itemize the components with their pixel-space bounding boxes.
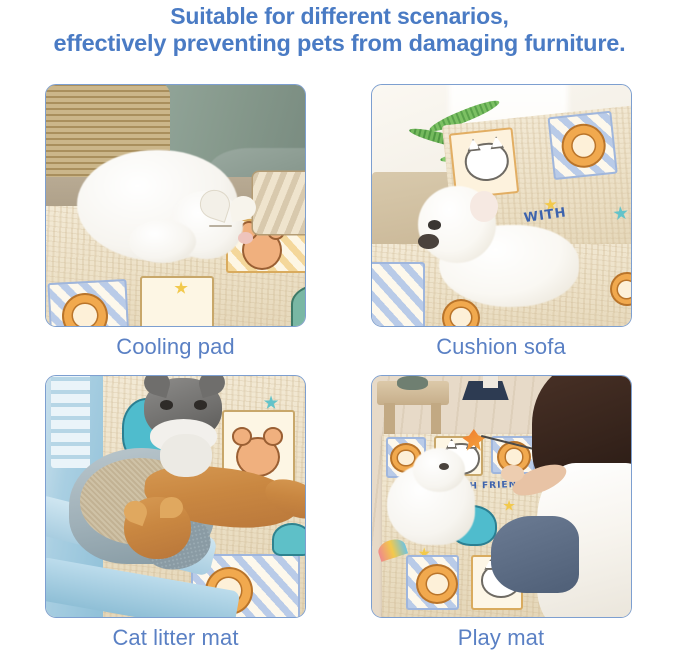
photo-cushion-sofa-scene: WITH [372,85,631,326]
scenario-cell-cushion-sofa: WITH Cushion sofa [371,84,632,367]
caption-play-mat: Play mat [371,618,632,658]
tabby-cat-eye-2 [194,400,207,410]
photo-cat-litter-mat[interactable] [45,375,306,618]
caption-cushion-sofa: Cushion sofa [371,327,632,367]
photo-play-mat-scene: WITH FRIENDS [372,376,631,617]
photo-cat-litter-mat-scene [46,376,305,617]
mat-text: WITH [523,205,568,226]
stool-plant [397,376,428,390]
scenario-cell-cooling-pad: Cooling pad [45,84,306,367]
photo-cooling-pad[interactable] [45,84,306,327]
photo-cushion-sofa[interactable]: WITH [371,84,632,327]
white-cat-nose [238,232,254,244]
woman-jeans [491,516,579,593]
headline-line-2: effectively preventing pets from damagin… [0,30,679,57]
bear-motif-icon [238,439,278,475]
star-motif-icon [503,500,515,512]
tabby-cat-eye [160,400,173,410]
lion-motif-icon-2 [444,301,478,326]
lion-motif-icon-3 [418,566,456,602]
dog-nose [418,234,439,248]
headline-line-1: Suitable for different scenarios, [0,3,679,30]
side-rug [253,172,305,235]
mat-tile [140,276,213,326]
scenario-grid: Cooling pad [0,84,679,658]
white-cat-head [413,448,465,491]
dino-motif-icon [293,286,305,326]
lion-motif-icon-3 [612,274,631,304]
caption-cooling-pad: Cooling pad [45,327,306,367]
playpen-bars [51,376,90,468]
page-headline: Suitable for different scenarios, effect… [0,0,679,57]
stool-leg [384,403,394,437]
caption-cat-litter-mat: Cat litter mat [45,618,306,658]
dino-motif-icon-2 [274,525,305,554]
white-cat-eye [439,463,449,470]
dog-eye [428,220,441,230]
tabby-cat-chest [160,434,212,477]
photo-play-mat[interactable]: WITH FRIENDS [371,375,632,618]
star-motif-icon-2 [613,205,629,221]
scratch-post [483,376,499,388]
scenario-cell-play-mat: WITH FRIENDS Play mat [371,375,632,658]
white-cat-eye [209,225,232,227]
photo-cooling-pad-scene [46,85,305,326]
mat-tile-seat [372,262,426,326]
scenario-cell-cat-litter-mat: Cat litter mat [45,375,306,658]
stool-leg-2 [431,403,441,437]
